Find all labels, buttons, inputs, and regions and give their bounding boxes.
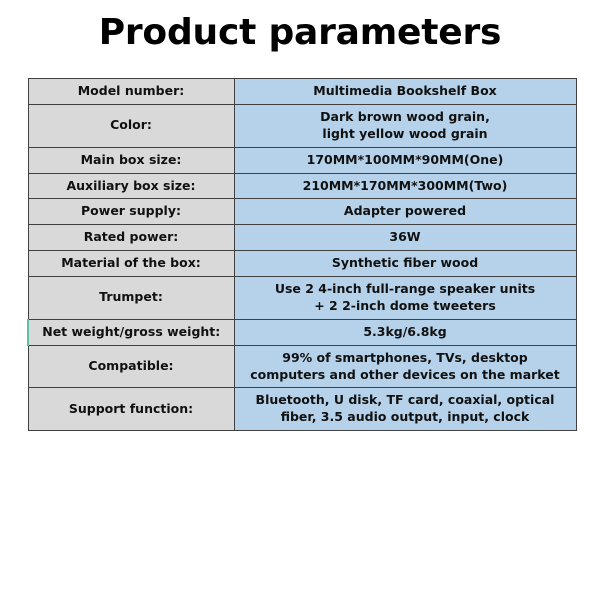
spec-label-cell: Compatible: — [28, 345, 234, 388]
spec-value-cell: Adapter powered — [234, 199, 576, 225]
spec-value-line: fiber, 3.5 audio output, input, clock — [241, 409, 570, 426]
spec-value-line: light yellow wood grain — [241, 126, 570, 143]
spec-value-cell: 210MM*170MM*300MM(Two) — [234, 173, 576, 199]
table-row: Power supply:Adapter powered — [28, 199, 576, 225]
spec-label-cell: Model number: — [28, 79, 234, 105]
spec-label-cell: Color: — [28, 104, 234, 147]
spec-value-cell: Synthetic fiber wood — [234, 251, 576, 277]
table-row: Support function:Bluetooth, U disk, TF c… — [28, 388, 576, 431]
spec-value-cell: Use 2 4-inch full-range speaker units+ 2… — [234, 277, 576, 320]
spec-value-cell: 99% of smartphones, TVs, desktopcomputer… — [234, 345, 576, 388]
spec-label-cell: Material of the box: — [28, 251, 234, 277]
spec-table-container: Model number:Multimedia Bookshelf BoxCol… — [27, 78, 575, 431]
table-row: Compatible:99% of smartphones, TVs, desk… — [28, 345, 576, 388]
spec-value-line: 36W — [241, 229, 570, 246]
table-row: Color:Dark brown wood grain,light yellow… — [28, 104, 576, 147]
spec-value-line: Use 2 4-inch full-range speaker units — [241, 281, 570, 298]
spec-value-line: Bluetooth, U disk, TF card, coaxial, opt… — [241, 392, 570, 409]
spec-label-cell: Auxiliary box size: — [28, 173, 234, 199]
table-row: Auxiliary box size:210MM*170MM*300MM(Two… — [28, 173, 576, 199]
spec-value-line: Adapter powered — [241, 203, 570, 220]
spec-value-line: computers and other devices on the marke… — [241, 367, 570, 384]
table-row: Main box size:170MM*100MM*90MM(One) — [28, 147, 576, 173]
spec-value-line: 170MM*100MM*90MM(One) — [241, 152, 570, 169]
spec-value-cell: 170MM*100MM*90MM(One) — [234, 147, 576, 173]
spec-value-cell: 36W — [234, 225, 576, 251]
table-row: Net weight/gross weight:5.3kg/6.8kg — [28, 319, 576, 345]
spec-value-line: Synthetic fiber wood — [241, 255, 570, 272]
table-row: Trumpet:Use 2 4-inch full-range speaker … — [28, 277, 576, 320]
spec-value-cell: 5.3kg/6.8kg — [234, 319, 576, 345]
table-row: Model number:Multimedia Bookshelf Box — [28, 79, 576, 105]
spec-value-line: + 2 2-inch dome tweeters — [241, 298, 570, 315]
spec-label-cell: Main box size: — [28, 147, 234, 173]
spec-value-line: 5.3kg/6.8kg — [241, 324, 570, 341]
spec-value-cell: Multimedia Bookshelf Box — [234, 79, 576, 105]
table-row: Material of the box:Synthetic fiber wood — [28, 251, 576, 277]
spec-label-cell: Net weight/gross weight: — [28, 319, 234, 345]
spec-value-line: Dark brown wood grain, — [241, 109, 570, 126]
spec-label-cell: Power supply: — [28, 199, 234, 225]
spec-value-cell: Bluetooth, U disk, TF card, coaxial, opt… — [234, 388, 576, 431]
product-parameters-table: Model number:Multimedia Bookshelf BoxCol… — [27, 78, 577, 431]
spec-value-line: 99% of smartphones, TVs, desktop — [241, 350, 570, 367]
spec-label-cell: Rated power: — [28, 225, 234, 251]
spec-value-line: 210MM*170MM*300MM(Two) — [241, 178, 570, 195]
product-spec-page: Product parameters Model number:Multimed… — [0, 0, 600, 600]
spec-value-cell: Dark brown wood grain,light yellow wood … — [234, 104, 576, 147]
spec-label-cell: Trumpet: — [28, 277, 234, 320]
spec-value-line: Multimedia Bookshelf Box — [241, 83, 570, 100]
page-title: Product parameters — [0, 0, 600, 53]
spec-table-body: Model number:Multimedia Bookshelf BoxCol… — [28, 79, 576, 431]
spec-label-cell: Support function: — [28, 388, 234, 431]
table-row: Rated power:36W — [28, 225, 576, 251]
